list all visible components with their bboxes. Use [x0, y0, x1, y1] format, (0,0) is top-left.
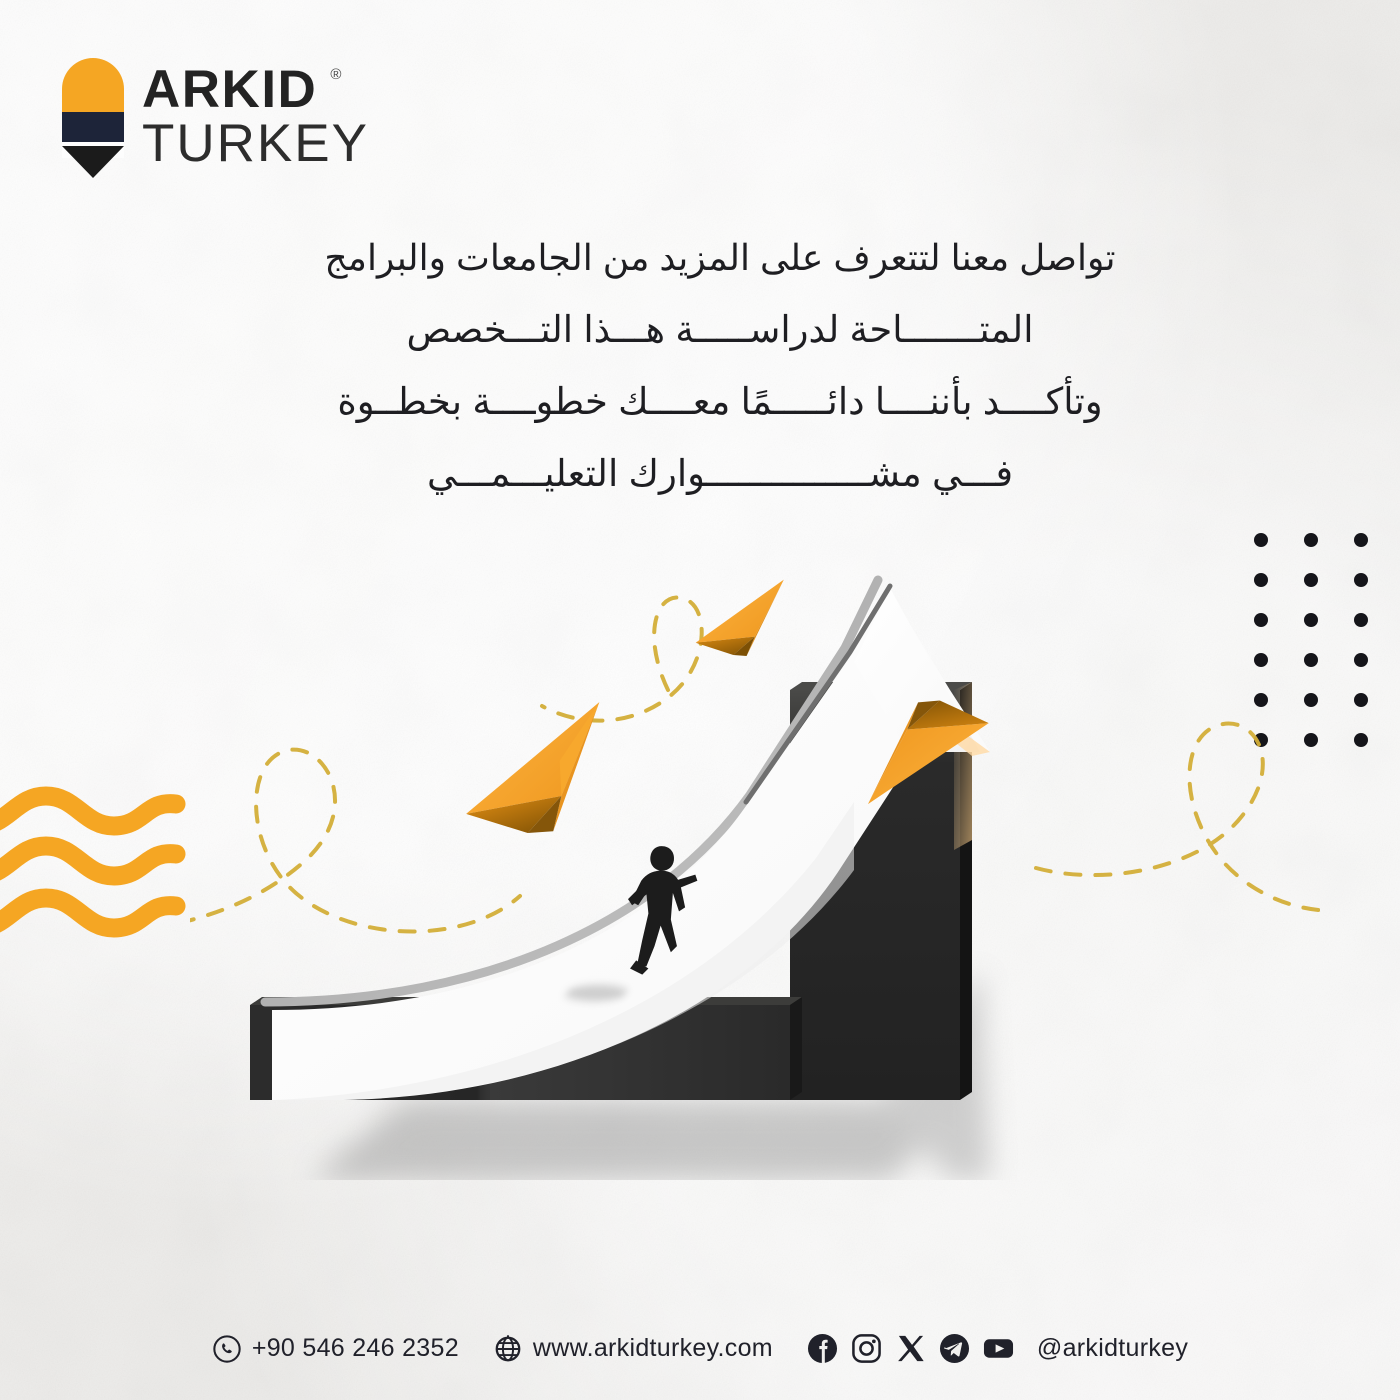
- paper-plane-top-icon: [686, 580, 800, 668]
- instagram-icon[interactable]: [851, 1333, 882, 1364]
- phone-number[interactable]: +90 546 246 2352: [252, 1334, 459, 1363]
- poster-canvas: ARKID ® TURKEY تواصل معنا لتتعرف على الم…: [0, 0, 1400, 1400]
- social-links: @arkidturkey: [807, 1333, 1188, 1364]
- facebook-icon[interactable]: [807, 1333, 838, 1364]
- brand-wordmark: ARKID ® TURKEY: [142, 64, 369, 170]
- contact-footer: +90 546 246 2352 www.arkidturkey.com: [0, 1333, 1400, 1364]
- headline-line-4: فـــي مشـــــــــــــــوارك التعليـــمــ…: [300, 438, 1140, 510]
- grid-dot: [1354, 693, 1368, 707]
- brand-logo[interactable]: ARKID ® TURKEY: [62, 58, 369, 176]
- social-handle[interactable]: @arkidturkey: [1037, 1334, 1188, 1363]
- youtube-icon[interactable]: [983, 1333, 1014, 1364]
- arkid-pencil-pin-logo-icon: [62, 58, 124, 176]
- logo-dark-tip: [62, 146, 124, 178]
- dashed-loop-right: [1036, 724, 1320, 911]
- registered-mark: ®: [330, 68, 343, 83]
- grid-dot: [1354, 733, 1368, 747]
- phone-group[interactable]: +90 546 246 2352: [212, 1334, 459, 1364]
- dashed-loop-center: [542, 597, 702, 720]
- grid-dot: [1354, 613, 1368, 627]
- headline-line-3: وتأكــــد بأننــــا دائـــــمًا معــــك …: [300, 366, 1140, 438]
- orange-wave-lines-icon: [0, 778, 186, 953]
- logo-orange-cap: [62, 58, 124, 120]
- dashed-loop-left: [190, 750, 520, 936]
- x-twitter-icon[interactable]: [895, 1333, 926, 1364]
- headline-line-1: تواصل معنا لتتعرف على المزيد من الجامعات…: [300, 222, 1140, 294]
- telegram-icon[interactable]: [939, 1333, 970, 1364]
- headline-line-2: المتـــــــاحة لدراســـــة هـــذا التـــ…: [300, 294, 1140, 366]
- grid-dot: [1354, 533, 1368, 547]
- grid-dot: [1354, 653, 1368, 667]
- globe-icon[interactable]: [493, 1334, 523, 1364]
- brand-name-line1: ARKID: [142, 64, 317, 116]
- brand-name-line2: TURKEY: [142, 118, 369, 170]
- paper-plane-left-icon: [446, 702, 633, 855]
- grid-dot: [1354, 573, 1368, 587]
- website-group[interactable]: www.arkidturkey.com: [493, 1334, 773, 1364]
- headline-text: تواصل معنا لتتعرف على المزيد من الجامعات…: [300, 222, 1140, 510]
- website-url[interactable]: www.arkidturkey.com: [533, 1334, 773, 1363]
- whatsapp-icon[interactable]: [212, 1334, 242, 1364]
- logo-navy-band: [62, 112, 124, 142]
- growth-arrow-3d-scene: [190, 540, 1320, 1180]
